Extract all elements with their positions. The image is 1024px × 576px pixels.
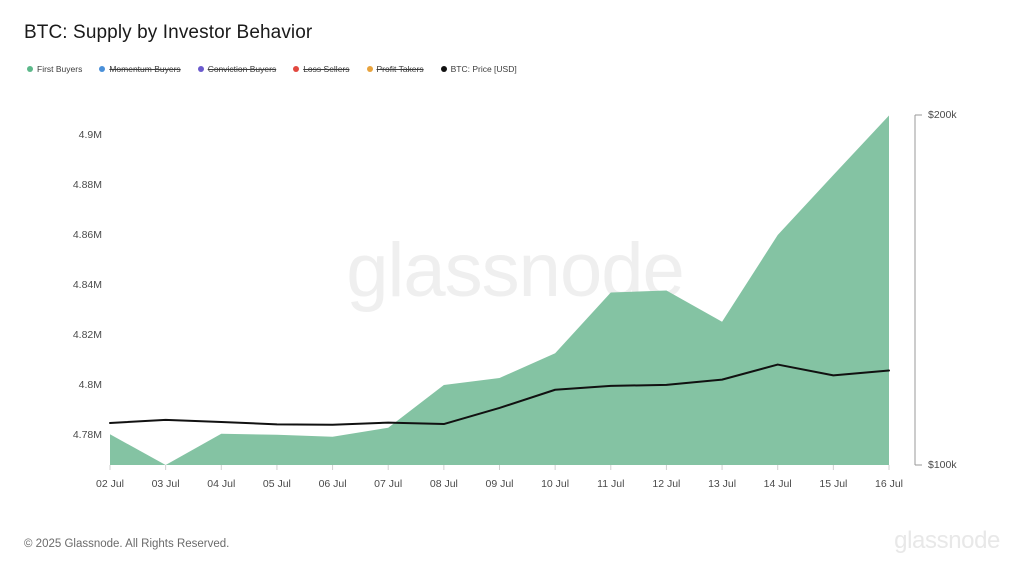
y-axis-left-tick-label: 4.9M xyxy=(32,129,102,141)
x-axis-tick-label: 07 Jul xyxy=(374,478,402,490)
x-axis-tick-label: 04 Jul xyxy=(207,478,235,490)
x-axis-tick-label: 11 Jul xyxy=(597,478,624,490)
y-axis-left-tick-label: 4.78M xyxy=(32,429,102,441)
x-axis-tick-label: 08 Jul xyxy=(430,478,458,490)
x-axis-tick-label: 16 Jul xyxy=(875,478,903,490)
x-axis-tick-label: 12 Jul xyxy=(652,478,680,490)
x-axis-tick-label: 09 Jul xyxy=(485,478,513,490)
y-axis-left-tick-label: 4.82M xyxy=(32,329,102,341)
footer-divider xyxy=(0,511,1024,512)
x-axis-tick-label: 14 Jul xyxy=(764,478,792,490)
y-axis-left-tick-label: 4.84M xyxy=(32,279,102,291)
y-axis-left-tick-label: 4.88M xyxy=(32,179,102,191)
x-axis-tick-label: 15 Jul xyxy=(819,478,847,490)
x-axis-tick-label: 02 Jul xyxy=(96,478,124,490)
y-axis-left-tick-label: 4.8M xyxy=(32,379,102,391)
y-axis-right-tick-label: $100k xyxy=(928,459,957,471)
y-axis-left-tick-label: 4.86M xyxy=(32,229,102,241)
x-axis-tick-label: 10 Jul xyxy=(541,478,569,490)
x-axis-tick-label: 13 Jul xyxy=(708,478,736,490)
x-axis-tick-label: 05 Jul xyxy=(263,478,291,490)
y-axis-right-tick-label: $200k xyxy=(928,109,957,121)
footer-copyright: © 2025 Glassnode. All Rights Reserved. xyxy=(24,538,229,550)
footer-logo: glassnode xyxy=(894,527,1000,555)
area-series-first-buyers xyxy=(110,116,889,466)
plot-area: glassnode 4.78M4.8M4.82M4.84M4.86M4.88M4… xyxy=(0,0,1024,576)
x-axis-tick-label: 06 Jul xyxy=(319,478,347,490)
x-axis-tick-label: 03 Jul xyxy=(152,478,180,490)
chart-container: BTC: Supply by Investor Behavior First B… xyxy=(0,0,1024,576)
